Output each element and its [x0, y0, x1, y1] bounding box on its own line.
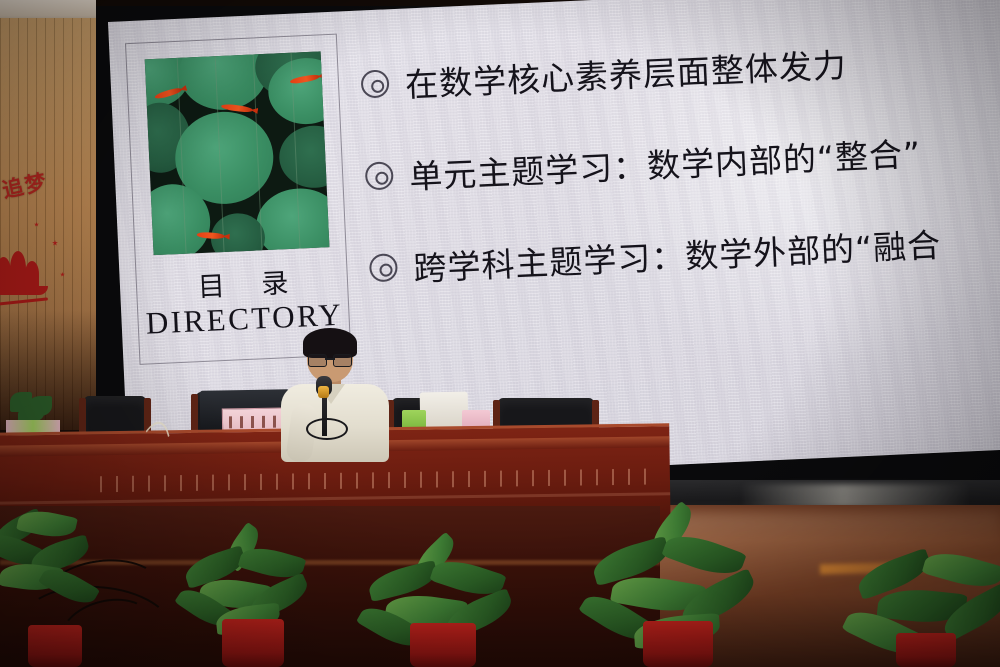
glasses-bridge [325, 358, 335, 360]
lotus-pad [278, 124, 329, 189]
slide-bullet-text: 单元主题学习：数学内部的“整合” [408, 127, 922, 198]
photo-scene: 追梦 [0, 0, 1000, 667]
table-carved-trim [100, 468, 660, 492]
potted-plant-far-right [578, 520, 778, 667]
table-groove [0, 492, 670, 504]
nameplate-text [229, 416, 277, 429]
lotus-artwork [145, 51, 330, 255]
slide-bullet-text: 在数学核心素养层面整体发力 [404, 39, 848, 107]
auditorium-room: 追梦 [0, 0, 1000, 667]
potted-plant-right [358, 552, 528, 667]
decal-figure [25, 261, 39, 287]
glasses-lens [333, 354, 352, 367]
potted-plant-left [0, 512, 120, 667]
potted-plant-edge-right [836, 556, 1000, 667]
slide-bullet-text: 跨学科主题学习：数学外部的“融合 [412, 218, 942, 290]
speaker-glasses [308, 354, 352, 365]
plant-pot [28, 625, 82, 667]
plant-pot [896, 633, 956, 667]
double-circle-bullet-icon [365, 161, 394, 190]
lotus-pad [255, 187, 330, 256]
potted-plant-center [178, 540, 328, 667]
glasses-lens [308, 354, 327, 367]
slide-bullet-list: 在数学核心素养层面整体发力 单元主题学习：数学内部的“整合” 跨学科主题学习：数… [359, 7, 1000, 314]
directory-card: 目 录 DIRECTORY [125, 34, 351, 365]
decal-figure [10, 251, 26, 287]
flower-arrangement [6, 392, 60, 436]
plant-pot [643, 621, 713, 667]
wood-panel-wall [0, 18, 104, 430]
microphone-base-ring [306, 418, 348, 440]
decal-base [0, 286, 48, 295]
microphone-accent [318, 386, 329, 398]
double-circle-bullet-icon [360, 69, 389, 98]
red-silhouette-decal [0, 245, 54, 297]
plant-pot [410, 623, 476, 667]
plant-pot [222, 619, 284, 667]
double-circle-bullet-icon [369, 253, 398, 282]
